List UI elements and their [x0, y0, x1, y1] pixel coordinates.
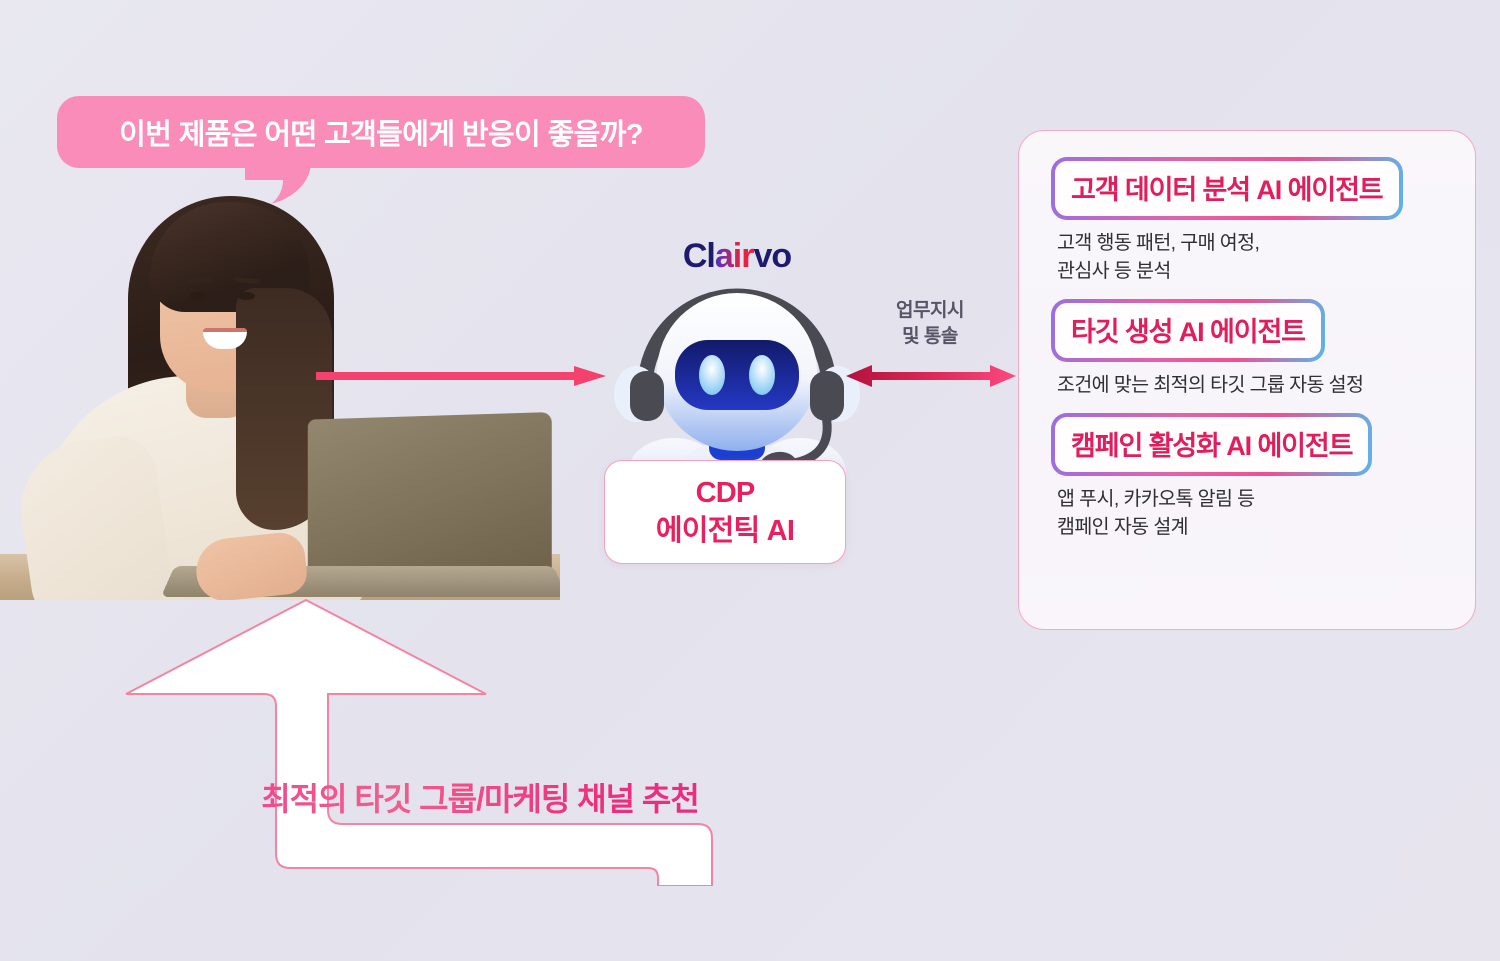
speech-bubble-text: 이번 제품은 어떤 고객들에게 반응이 좋을까?: [119, 111, 643, 153]
cdp-agentic-ai-box[interactable]: CDP 에이전틱 AI: [604, 460, 846, 564]
logo-text-part3: r: [741, 237, 753, 275]
logo-text-part1: Cl: [683, 237, 715, 275]
agent-desc-1: 고객 행동 패턴, 구매 여정, 관심사 등 분석: [1057, 229, 1475, 285]
arrow-up-icon: [98, 596, 798, 886]
left-arm: [12, 431, 176, 600]
logo-text-part2: ai: [715, 237, 741, 275]
laptop-screen: [308, 412, 552, 580]
agent-title-1: 고객 데이터 분석 AI 에이전트: [1071, 175, 1383, 205]
eye-left: [190, 292, 207, 300]
agent-card-2[interactable]: 타깃 생성 AI 에이전트 조건에 맞는 최적의 타깃 그룹 자동 설정: [1019, 299, 1475, 399]
flow-label-line2: 및 통솔: [860, 324, 1000, 350]
agent-title-pill-1[interactable]: 고객 데이터 분석 AI 에이전트: [1051, 157, 1403, 220]
flow-label: 업무지시 및 통솔: [860, 298, 1000, 350]
clairvo-logo: Clairvo: [612, 234, 862, 278]
infographic-canvas: 이번 제품은 어떤 고객들에게 반응이 좋을까? Clairvo: [0, 0, 1500, 961]
agent-card-3[interactable]: 캠페인 활성화 AI 에이전트 앱 푸시, 카카오톡 알림 등 캠페인 자동 설…: [1019, 413, 1475, 541]
arrow-left-right-icon: [846, 363, 1016, 389]
flow-label-line1: 업무지시: [860, 298, 1000, 324]
agent-card-1[interactable]: 고객 데이터 분석 AI 에이전트 고객 행동 패턴, 구매 여정, 관심사 등…: [1019, 157, 1475, 285]
agent-title-3: 캠페인 활성화 AI 에이전트: [1071, 431, 1352, 461]
ai-agents-panel: 고객 데이터 분석 AI 에이전트 고객 행동 패턴, 구매 여정, 관심사 등…: [1018, 130, 1476, 630]
cdp-title-line1: CDP: [696, 474, 755, 512]
speech-bubble: 이번 제품은 어떤 고객들에게 반응이 좋을까?: [57, 96, 705, 168]
arrow-right-icon: [316, 366, 606, 386]
logo-text-part4: vo: [753, 237, 791, 275]
agent-desc-2: 조건에 맞는 최적의 타깃 그룹 자동 설정: [1057, 371, 1475, 399]
agent-title-pill-2[interactable]: 타깃 생성 AI 에이전트: [1051, 299, 1325, 362]
bottom-recommendation-label: 최적의 타깃 그룹/마케팅 채널 추천: [180, 774, 780, 820]
eye-right: [238, 292, 255, 300]
cdp-title-line2: 에이전틱 AI: [656, 512, 794, 550]
agent-desc-3: 앱 푸시, 카카오톡 알림 등 캠페인 자동 설계: [1057, 485, 1475, 541]
agent-title-pill-3[interactable]: 캠페인 활성화 AI 에이전트: [1051, 413, 1372, 476]
agent-title-2: 타깃 생성 AI 에이전트: [1071, 317, 1305, 347]
